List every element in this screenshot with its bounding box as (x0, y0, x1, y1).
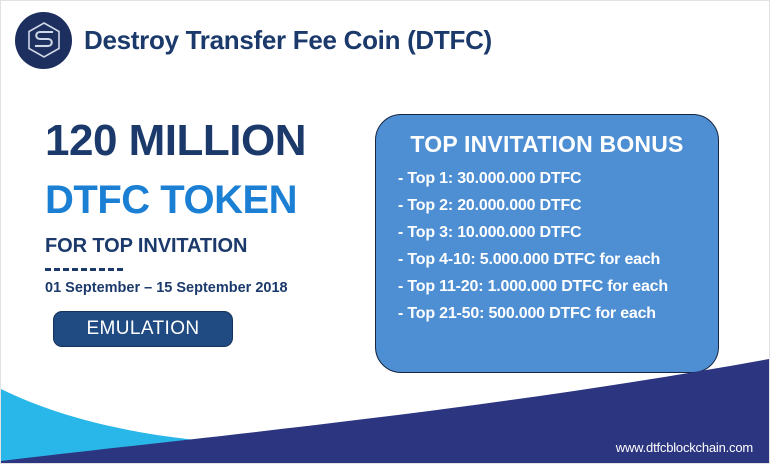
bonus-list-item: - Top 21-50: 500.000 DTFC for each (376, 305, 718, 323)
banner-header: Destroy Transfer Fee Coin (DTFC) (15, 9, 755, 71)
bonus-list-item: - Top 3: 10.000.000 DTFC (376, 224, 718, 242)
promo-amount: 120 MILLION (45, 119, 355, 164)
brand-title: Destroy Transfer Fee Coin (DTFC) (84, 25, 492, 56)
bonus-list-item: - Top 1: 30.000.000 DTFC (376, 170, 718, 188)
emulation-button[interactable]: EMULATION (53, 311, 233, 347)
bonus-list-item: - Top 4-10: 5.000.000 DTFC for each (376, 251, 718, 269)
bonus-list: - Top 1: 30.000.000 DTFC - Top 2: 20.000… (376, 170, 718, 323)
promo-left-column: 120 MILLION DTFC TOKEN FOR TOP INVITATIO… (45, 119, 355, 347)
promo-date-range: 01 September – 15 September 2018 (45, 280, 355, 296)
website-url: www.dtfcblockchain.com (616, 440, 753, 455)
promo-subtitle: FOR TOP INVITATION (45, 235, 355, 258)
bonus-heading: TOP INVITATION BONUS (376, 131, 718, 158)
bonus-list-item: - Top 11-20: 1.000.000 DTFC for each (376, 278, 718, 296)
bonus-list-item: - Top 2: 20.000.000 DTFC (376, 197, 718, 215)
dashed-divider (45, 268, 123, 271)
promo-banner: Destroy Transfer Fee Coin (DTFC) 120 MIL… (0, 0, 770, 464)
promo-token-name: DTFC TOKEN (45, 180, 355, 221)
hexagon-s-logo-icon (15, 12, 72, 69)
bonus-panel: TOP INVITATION BONUS - Top 1: 30.000.000… (375, 114, 719, 373)
